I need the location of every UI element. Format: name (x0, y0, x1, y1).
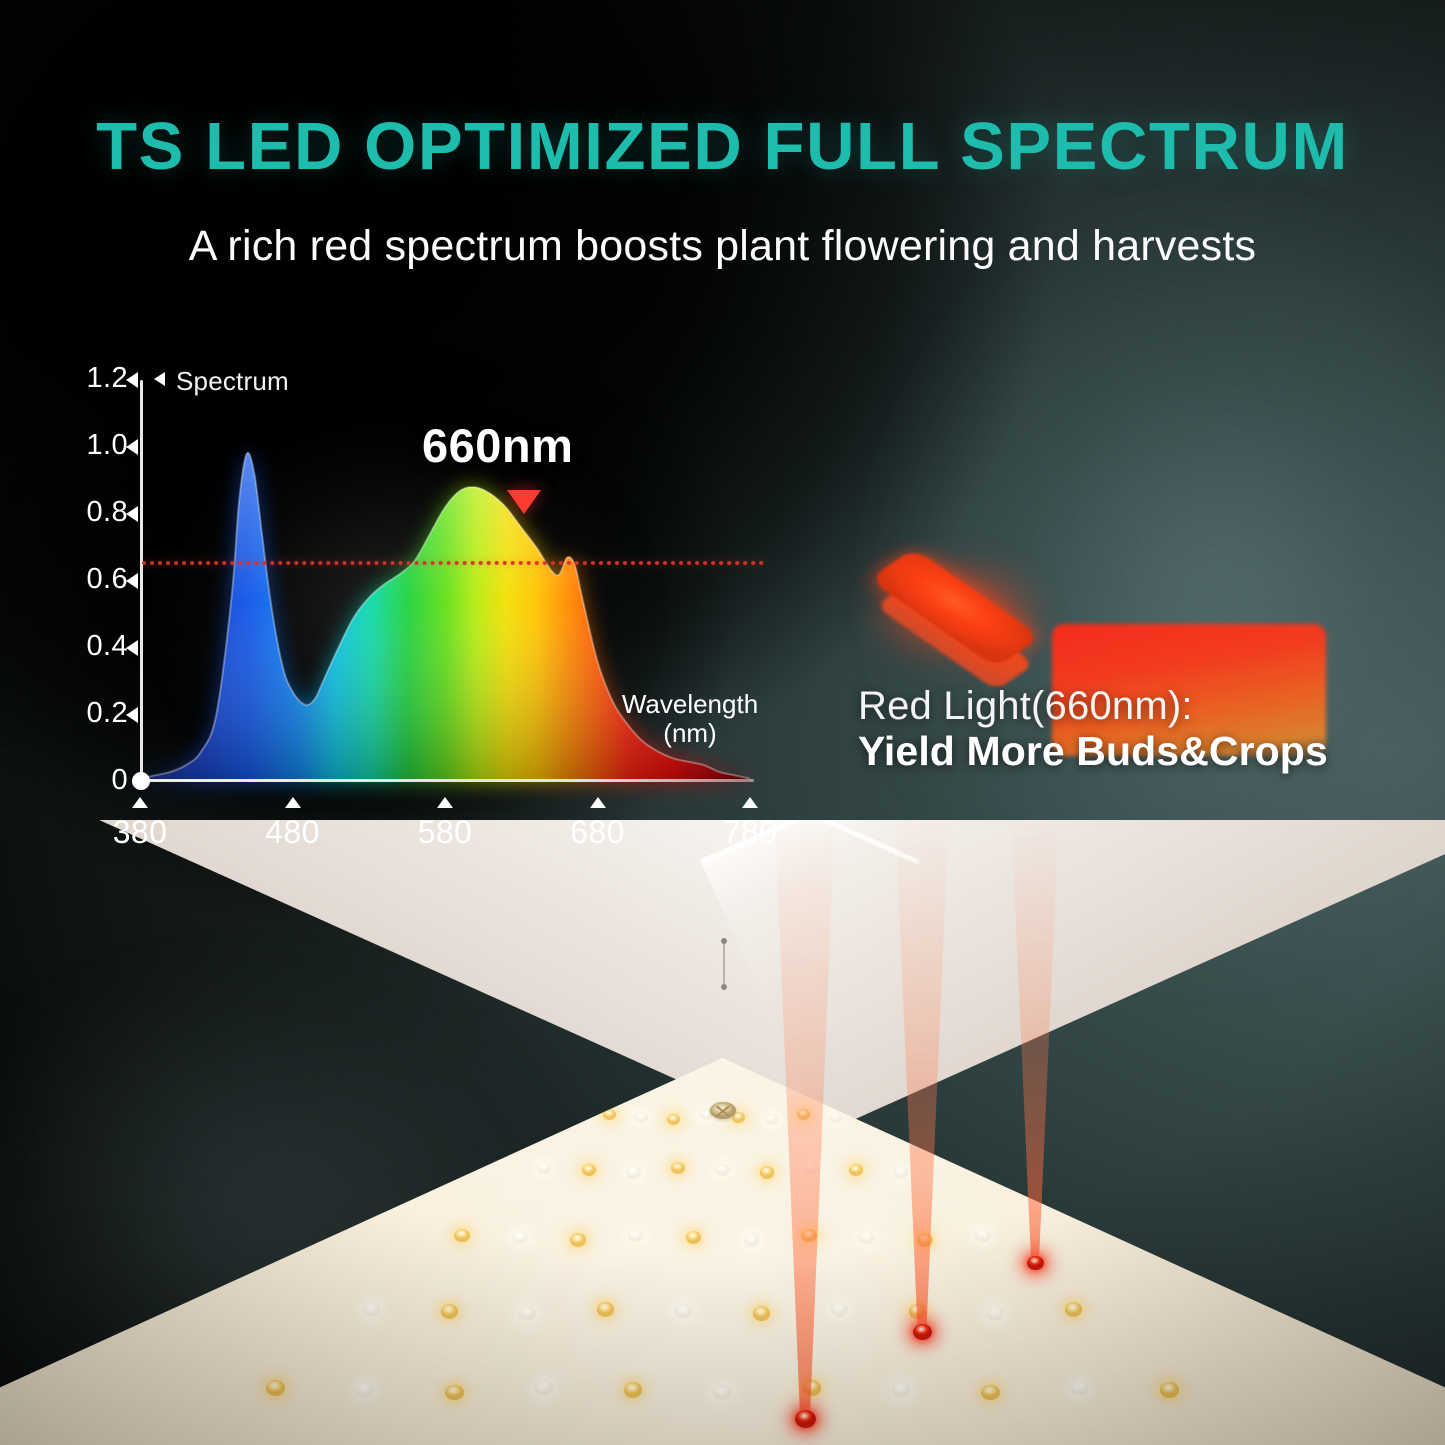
y-axis-tick-label: 0 (66, 764, 128, 797)
x-axis-tick (132, 797, 148, 808)
reference-line (142, 561, 764, 565)
product-feature-image: TS LED OPTIMIZED FULL SPECTRUM A rich re… (0, 0, 1445, 1445)
x-axis-tick-label: 380 (90, 814, 190, 851)
x-axis-tick (590, 797, 606, 808)
x-axis-tick-label: 780 (700, 814, 800, 851)
x-axis-tick (437, 797, 453, 808)
x-axis-tick (742, 797, 758, 808)
x-axis-tick (285, 797, 301, 808)
x-axis-tick-label: 480 (243, 814, 343, 851)
x-axis-title: Wavelength (nm) (600, 690, 780, 748)
red-led-chip (850, 558, 1060, 678)
x-axis-title-unit: (nm) (663, 718, 716, 748)
y-axis-tick-label: 0.6 (66, 563, 128, 596)
y-axis-tick-label: 1.2 (66, 362, 128, 395)
y-axis-tick-label: 0.4 (66, 630, 128, 663)
spectrum-chart: Spectrum 00.20.40.60.81.01.2 38048058068… (80, 360, 800, 830)
x-axis-line (140, 779, 754, 782)
callout-line-2: Yield More Buds&Crops (858, 728, 1328, 775)
y-axis-line (140, 380, 143, 782)
y-axis-tick-label: 0.2 (66, 697, 128, 730)
peak-annotation-label: 660nm (422, 418, 573, 473)
y-axis-tick-label: 0.8 (66, 496, 128, 529)
page-title: TS LED OPTIMIZED FULL SPECTRUM (0, 108, 1445, 185)
x-axis-tick-label: 680 (548, 814, 648, 851)
y-axis-tick-label: 1.0 (66, 429, 128, 462)
x-axis-tick-label: 580 (395, 814, 495, 851)
callout-line-1: Red Light(660nm): (858, 684, 1193, 729)
page-subtitle: A rich red spectrum boosts plant floweri… (0, 222, 1445, 271)
x-axis-title-text: Wavelength (622, 689, 758, 719)
peak-annotation-marker-icon (507, 490, 541, 514)
red-light-callout: Red Light(660nm): Yield More Buds&Crops (840, 548, 1400, 798)
axis-origin-dot (132, 772, 150, 790)
